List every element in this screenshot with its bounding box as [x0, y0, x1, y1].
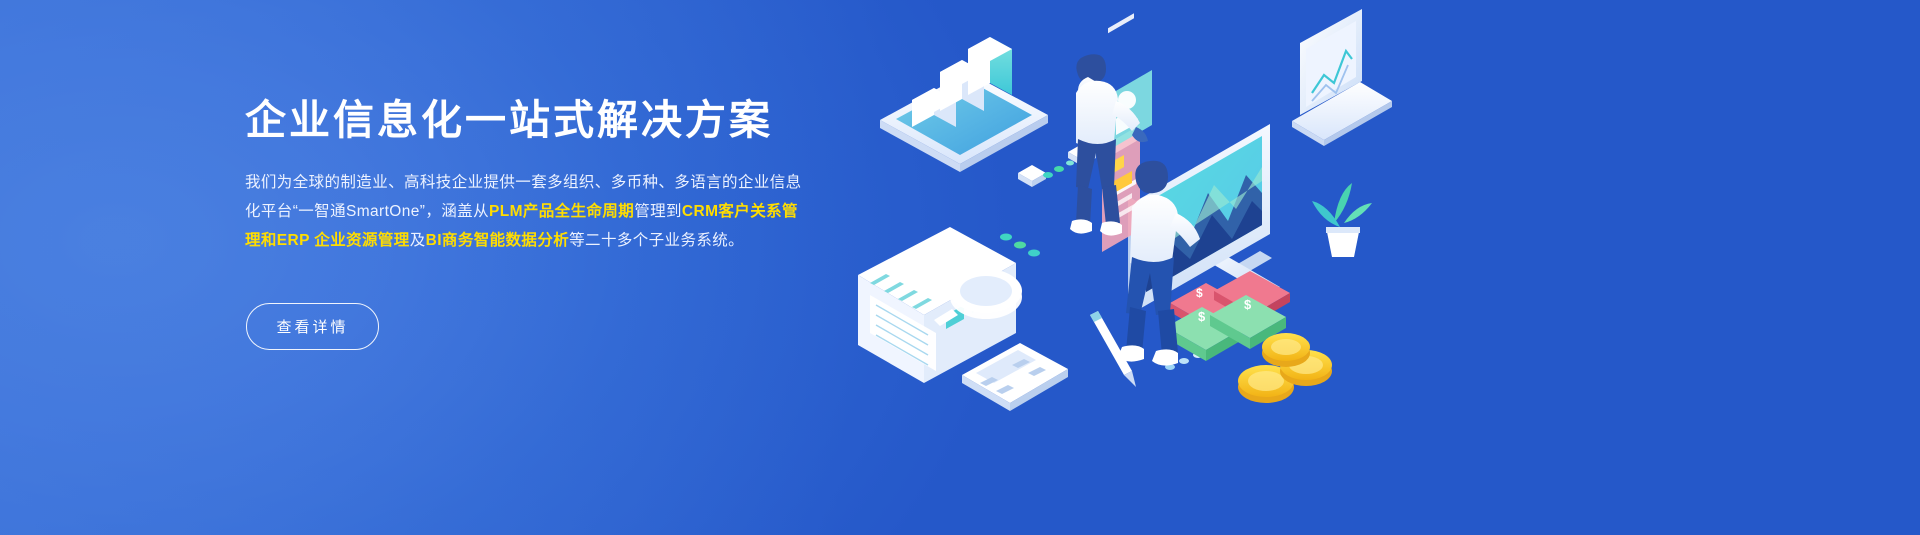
hero-banner: 企业信息化一站式解决方案 我们为全球的制造业、高科技企业提供一套多组织、多币种、…: [0, 0, 1920, 535]
page-title: 企业信息化一站式解决方案: [245, 95, 773, 146]
desc-highlight-plm: PLM产品全生命周期: [489, 203, 634, 220]
view-details-button[interactable]: 查看详情: [246, 303, 379, 350]
desc-segment-7: 及: [410, 232, 426, 249]
tablet-bar-chart: [880, 37, 1048, 172]
banner-description: 我们为全球的制造业、高科技企业提供一套多组织、多币种、多语言的企业信息化平台“一…: [245, 168, 805, 255]
svg-text:$: $: [1244, 297, 1252, 312]
desc-highlight-bi: BI商务智能数据分析: [426, 232, 570, 249]
desc-segment-9: 等二十多个子业务系统。: [569, 232, 744, 249]
svg-text:$: $: [1196, 286, 1203, 300]
desc-highlight-erp: 和ERP 企业资源管理: [261, 232, 410, 249]
desc-segment-2: 平台“一智通SmartOne”，涵盖从: [261, 203, 489, 220]
isometric-illustration: $ $ $: [840, 15, 1400, 425]
desktop-monitor-area-chart: [1102, 13, 1280, 311]
banner-copy-block: 企业信息化一站式解决方案 我们为全球的制造业、高科技企业提供一套多组织、多币种、…: [245, 0, 865, 535]
potted-plant: [1312, 183, 1372, 257]
desc-segment-4: 管理到: [634, 203, 682, 220]
svg-text:$: $: [1198, 309, 1206, 324]
laptop-line-chart: [1292, 9, 1392, 146]
